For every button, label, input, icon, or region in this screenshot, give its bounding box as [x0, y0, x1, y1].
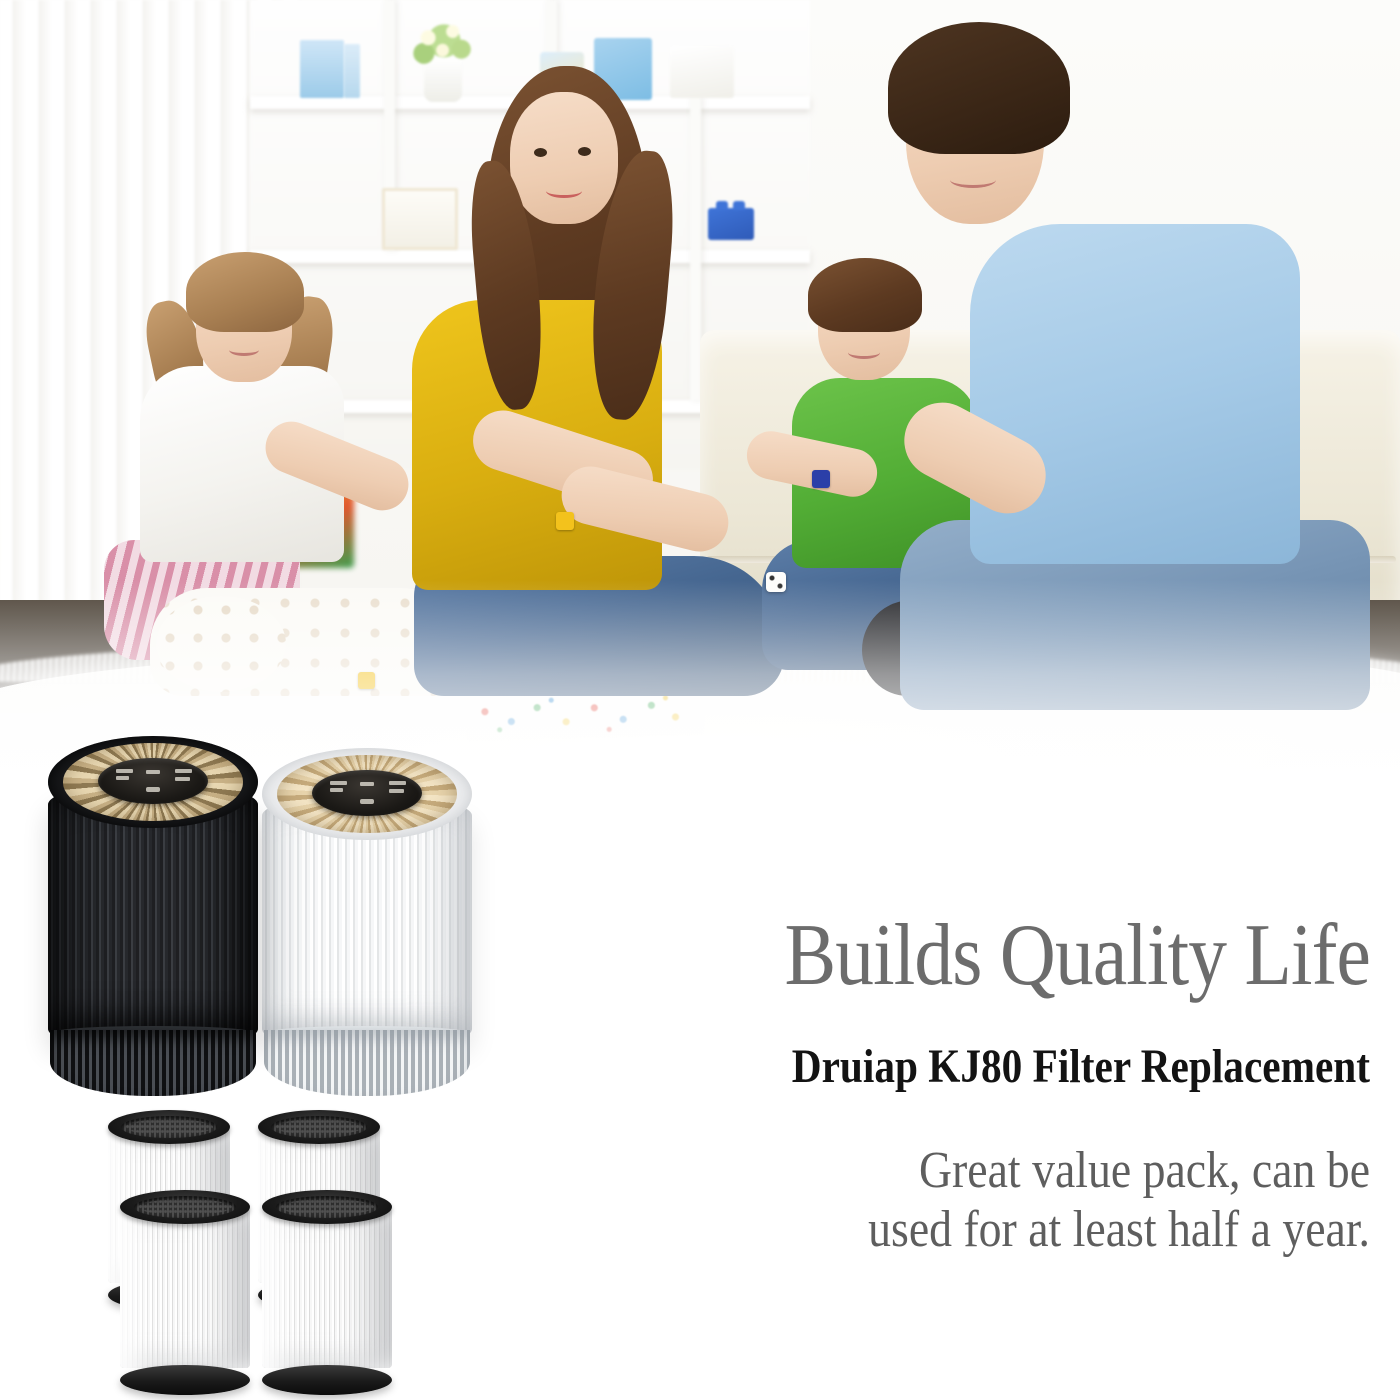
- purifier-white-top: [262, 748, 472, 840]
- filter-reset-icon: [389, 781, 406, 785]
- purifier-black-top: [48, 736, 258, 828]
- tagline: Great value pack, can be used for at lea…: [587, 1142, 1370, 1258]
- shelf-flowers: [408, 18, 480, 70]
- filter-reset-icon: [175, 769, 192, 773]
- control-panel-black: [98, 758, 207, 804]
- tagline-line-2: used for at least half a year.: [587, 1201, 1370, 1259]
- timer-icon: [360, 782, 373, 786]
- filter-pleats: [262, 1207, 392, 1368]
- night-mode-icon: [116, 776, 129, 780]
- night-mode-icon: [330, 788, 343, 792]
- father-blue-shirt: [970, 224, 1300, 564]
- girl-dice-yellow: [358, 672, 375, 689]
- power-icon: [360, 799, 373, 804]
- tagline-line-1: Great value pack, can be: [587, 1142, 1370, 1200]
- filter-cap-bottom: [120, 1365, 250, 1395]
- father-hair: [888, 22, 1070, 154]
- shelf-picture-frame: [382, 188, 458, 250]
- father-dice-white: [766, 572, 786, 592]
- marketing-copy-block: Builds Quality Life Druiap KJ80 Filter R…: [480, 912, 1370, 1259]
- headline: Builds Quality Life: [587, 912, 1370, 1000]
- timer-icon: [146, 770, 159, 774]
- purifier-white-base-vent: [264, 1030, 470, 1096]
- air-purifier-white: [262, 748, 472, 1096]
- fan-speed-icon: [116, 769, 133, 773]
- shelf-book-blue-2: [344, 44, 360, 98]
- product-marketing-image: Builds Quality Life Druiap KJ80 Filter R…: [0, 0, 1400, 1400]
- shelf-box-white: [670, 46, 734, 98]
- shelf-book-blue: [300, 40, 344, 98]
- filter-mesh: [275, 1119, 363, 1135]
- filter-pleats: [120, 1207, 250, 1368]
- toy-block-blue: [708, 208, 754, 240]
- boy-hair: [808, 258, 922, 332]
- filter-mesh: [125, 1119, 213, 1135]
- board-game: [465, 691, 704, 742]
- filter-mesh: [280, 1199, 374, 1215]
- mother-dice-yellow: [556, 512, 574, 530]
- hero-lifestyle-photo: [0, 0, 1400, 790]
- control-panel-white: [312, 770, 421, 816]
- filter-mesh: [138, 1199, 232, 1215]
- ionizer-icon: [175, 777, 190, 781]
- mother-face: [510, 92, 618, 224]
- filter-front-right: [262, 1190, 392, 1395]
- fan-speed-icon: [330, 781, 347, 785]
- filter-front-left: [120, 1190, 250, 1395]
- product-name: Druiap KJ80 Filter Replacement: [605, 1042, 1370, 1092]
- boy-dice-blue: [812, 470, 830, 488]
- air-purifier-black: [48, 736, 258, 1096]
- girl-knee: [156, 596, 286, 692]
- ionizer-icon: [389, 789, 404, 793]
- purifier-black-base-vent: [50, 1030, 256, 1096]
- girl-hair: [186, 252, 304, 332]
- filter-cap-bottom: [262, 1365, 392, 1395]
- power-icon: [146, 787, 159, 792]
